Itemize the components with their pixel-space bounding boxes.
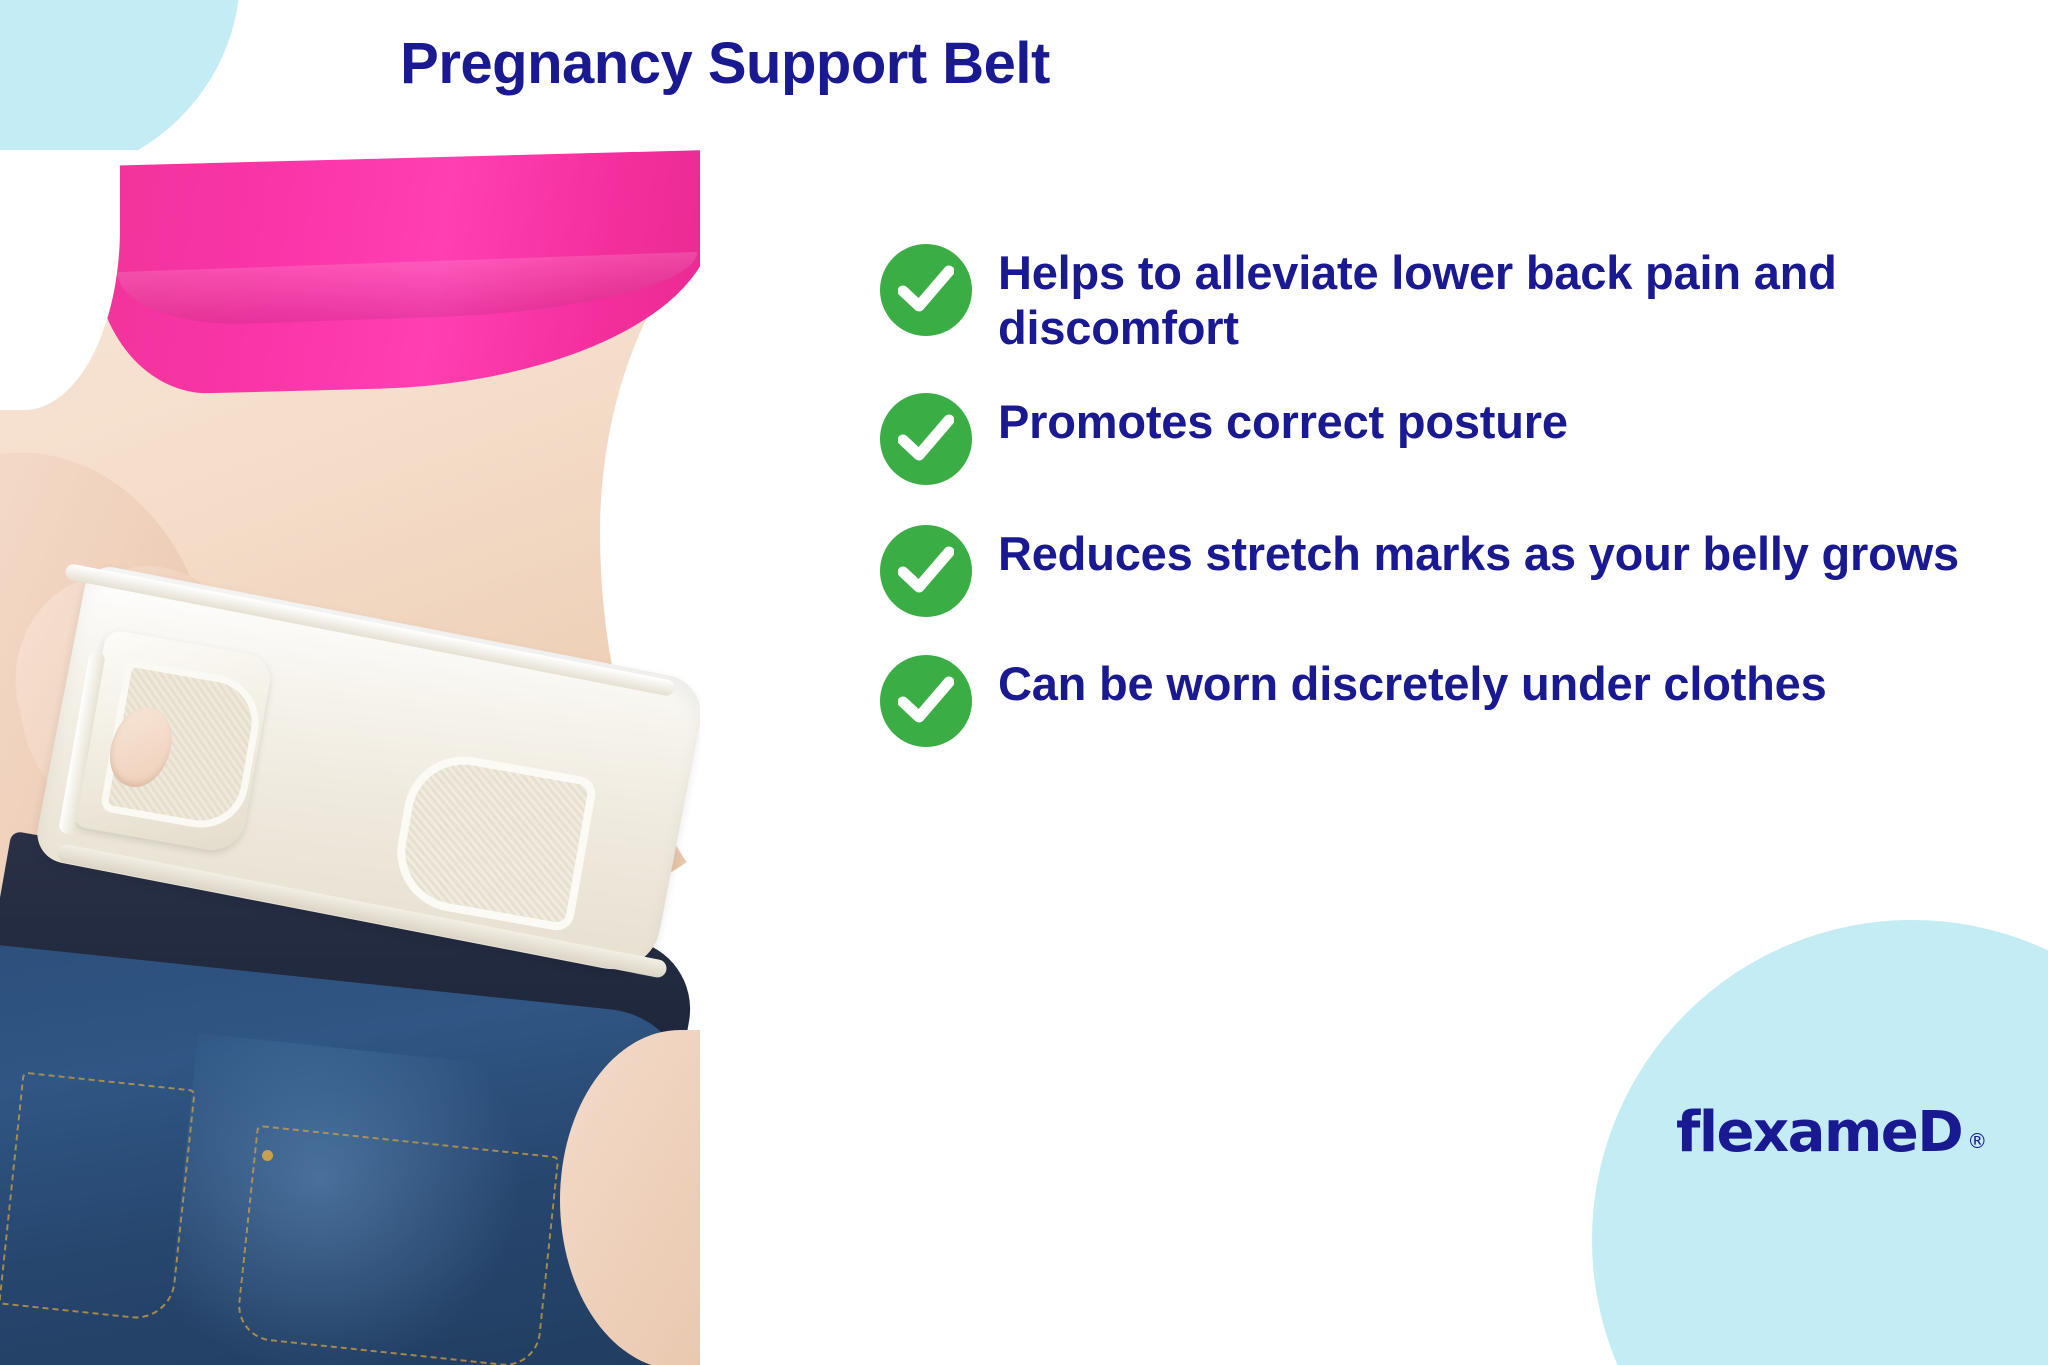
jeans-pocket-right <box>235 1125 560 1365</box>
check-circle-icon <box>880 525 972 617</box>
brand-wordmark: flexameD <box>1676 1105 1962 1161</box>
jeans-pocket-left <box>0 1072 196 1323</box>
benefit-item-4: Can be worn discretely under clothes <box>880 651 1990 747</box>
benefit-label: Helps to alleviate lower back pain and d… <box>998 240 1990 355</box>
registered-trademark-icon: ® <box>1967 1129 1987 1153</box>
benefit-label: Can be worn discretely under clothes <box>998 651 1827 712</box>
benefit-item-2: Promotes correct posture <box>880 389 1990 485</box>
product-photo <box>0 150 880 1365</box>
benefit-item-3: Reduces stretch marks as your belly grow… <box>880 521 1990 617</box>
jeans-rivet <box>262 1150 273 1161</box>
brand-logo: flexameD ® <box>1676 1105 1987 1161</box>
check-circle-icon <box>880 244 972 336</box>
check-circle-icon <box>880 655 972 747</box>
photo-right-whitespace <box>700 150 880 1365</box>
check-circle-icon <box>880 393 972 485</box>
benefit-label: Reduces stretch marks as your belly grow… <box>998 521 1959 582</box>
infographic-canvas: Pregnancy Support Belt <box>0 0 2048 1365</box>
benefit-label: Promotes correct posture <box>998 389 1568 450</box>
benefit-item-1: Helps to alleviate lower back pain and d… <box>880 240 1990 355</box>
page-title: Pregnancy Support Belt <box>0 30 1450 97</box>
benefits-list: Helps to alleviate lower back pain and d… <box>880 240 1990 781</box>
